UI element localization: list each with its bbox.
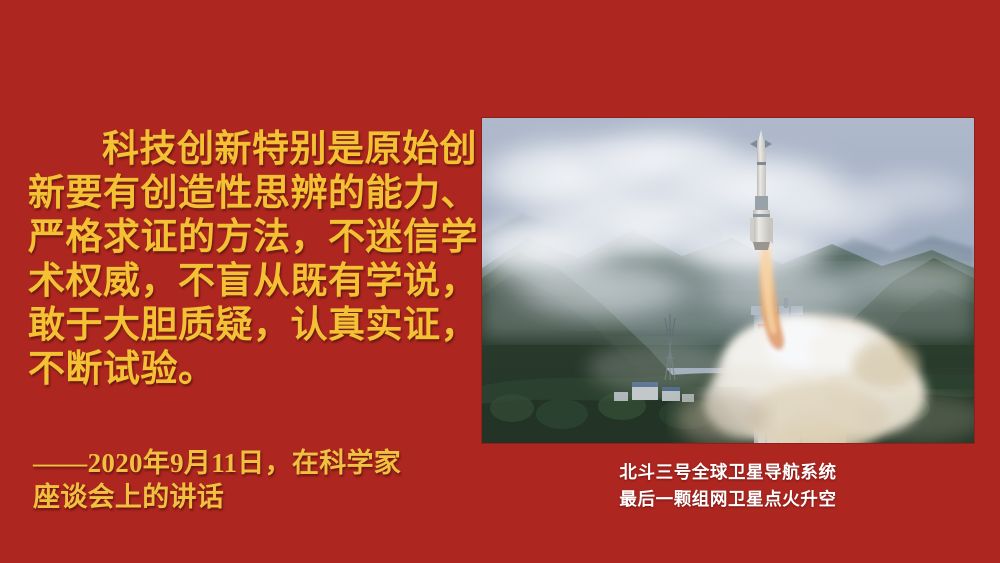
slide-canvas: 科技创新特别是原始创 新要有创造性思辨的能力、 严格求证的方法，不迷信学 术权威… [0, 0, 1000, 563]
attribution-line: ——2020年9月11日，在科学家 [33, 446, 453, 480]
caption-line: 北斗三号全球卫星导航系统 [482, 459, 974, 486]
quote-line: 术权威，不盲从既有学说， [28, 260, 458, 304]
quote-text-block: 科技创新特别是原始创 新要有创造性思辨的能力、 严格求证的方法，不迷信学 术权威… [28, 128, 458, 392]
quote-line: 不断试验。 [28, 348, 458, 392]
rocket-launch-photo [482, 118, 974, 443]
caption-line: 最后一颗组网卫星点火升空 [482, 486, 974, 513]
quote-line: 科技创新特别是原始创 [28, 128, 458, 172]
quote-line: 严格求证的方法，不迷信学 [28, 216, 458, 260]
attribution-line: 座谈会上的讲话 [33, 480, 453, 514]
quote-line: 新要有创造性思辨的能力、 [28, 172, 458, 216]
quote-attribution: ——2020年9月11日，在科学家 座谈会上的讲话 [33, 446, 453, 514]
photo-caption: 北斗三号全球卫星导航系统 最后一颗组网卫星点火升空 [482, 459, 974, 513]
quote-line: 敢于大胆质疑，认真实证， [28, 304, 458, 348]
photo-artwork [482, 118, 974, 443]
